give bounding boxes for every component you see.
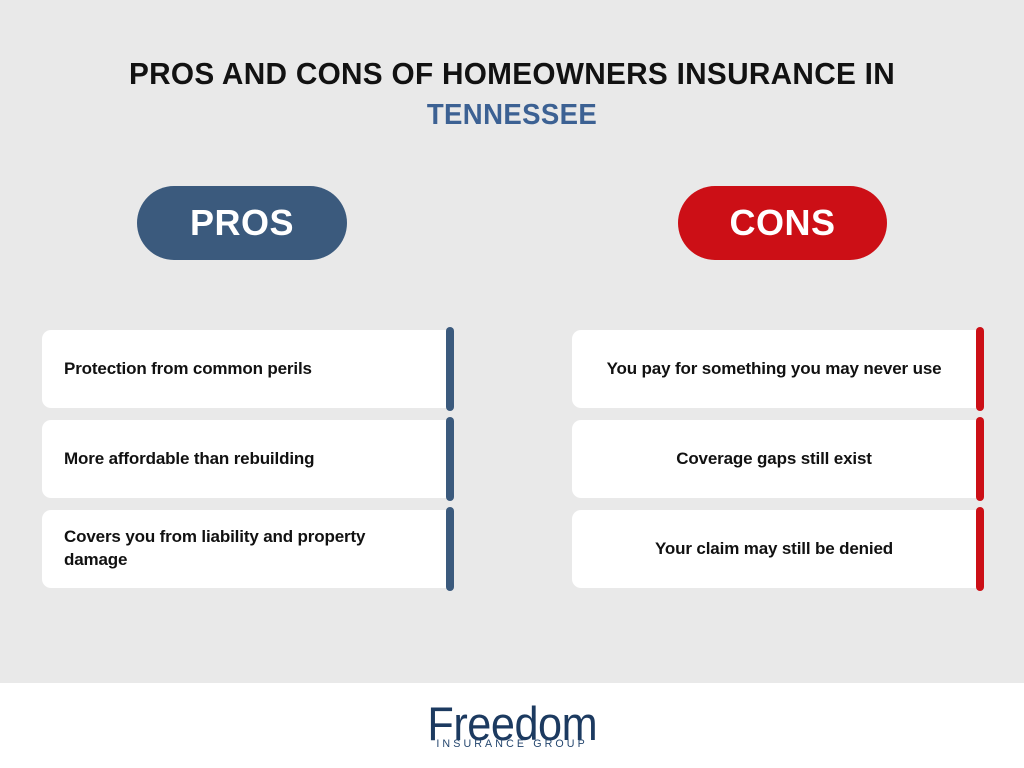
infographic-page: PROS AND CONS OF HOMEOWNERS INSURANCE IN… xyxy=(0,0,1024,768)
list-item: More affordable than rebuilding xyxy=(42,420,454,498)
pros-header-pill: PROS xyxy=(137,186,347,260)
pros-list: Protection from common perils More affor… xyxy=(42,330,454,600)
infographic-canvas: PROS AND CONS OF HOMEOWNERS INSURANCE IN… xyxy=(0,0,1024,683)
pros-item-label: More affordable than rebuilding xyxy=(64,448,314,471)
cons-item-label: Your claim may still be denied xyxy=(655,538,893,561)
page-title-line-2: TENNESSEE xyxy=(26,100,999,131)
cons-list: You pay for something you may never use … xyxy=(572,330,984,600)
cons-item-label: You pay for something you may never use xyxy=(607,358,942,381)
page-title-line-1: PROS AND CONS OF HOMEOWNERS INSURANCE IN xyxy=(20,58,1003,91)
pros-item-label: Covers you from liability and property d… xyxy=(64,526,414,571)
brand-logo-tagline: INSURANCE GROUP xyxy=(436,738,588,750)
page-title: PROS AND CONS OF HOMEOWNERS INSURANCE IN… xyxy=(0,58,1024,131)
accent-bar-icon xyxy=(976,417,984,501)
cons-header-label: CONS xyxy=(729,202,835,244)
footer: Freedom INSURANCE GROUP xyxy=(0,683,1024,768)
list-item: Protection from common perils xyxy=(42,330,454,408)
pros-item-label: Protection from common perils xyxy=(64,358,312,381)
cons-header-pill: CONS xyxy=(678,186,887,260)
pros-header-label: PROS xyxy=(190,202,294,244)
list-item: You pay for something you may never use xyxy=(572,330,984,408)
cons-item-label: Coverage gaps still exist xyxy=(676,448,872,471)
accent-bar-icon xyxy=(976,327,984,411)
accent-bar-icon xyxy=(446,417,454,501)
accent-bar-icon xyxy=(976,507,984,591)
list-item: Your claim may still be denied xyxy=(572,510,984,588)
list-item: Covers you from liability and property d… xyxy=(42,510,454,588)
list-item: Coverage gaps still exist xyxy=(572,420,984,498)
accent-bar-icon xyxy=(446,327,454,411)
brand-logo: Freedom INSURANCE GROUP xyxy=(0,683,1024,768)
accent-bar-icon xyxy=(446,507,454,591)
